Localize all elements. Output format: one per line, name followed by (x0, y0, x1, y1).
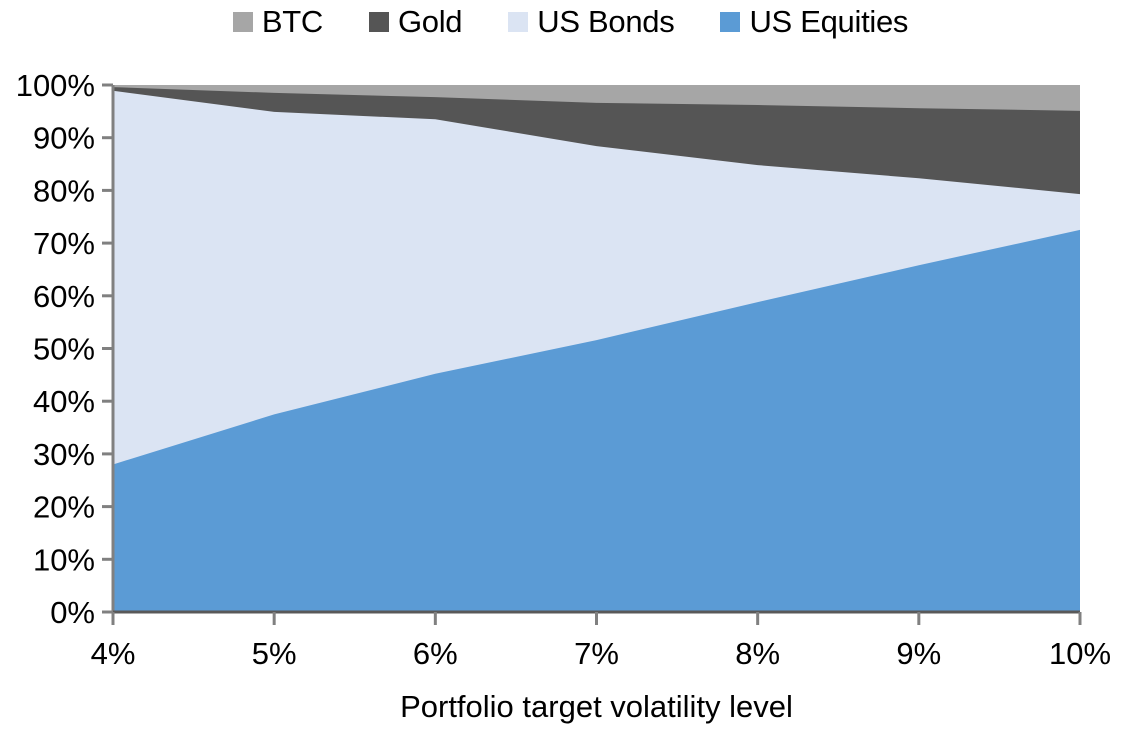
y-axis-tick-label: 50% (33, 332, 95, 367)
y-axis-tick-label: 90% (33, 121, 95, 156)
y-axis-tick-labels: 0%10%20%30%40%50%60%70%80%90%100% (16, 68, 95, 630)
y-axis-tick-label: 100% (16, 68, 95, 103)
y-axis-tick-label: 20% (33, 490, 95, 525)
y-axis-tick-label: 10% (33, 542, 95, 577)
x-axis-tick-label: 7% (574, 636, 619, 671)
y-axis-tick-label: 30% (33, 437, 95, 472)
plot-svg: 0%10%20%30%40%50%60%70%80%90%100% 4%5%6%… (0, 0, 1141, 742)
x-axis-tick-label: 5% (252, 636, 297, 671)
area-series-group (113, 85, 1080, 612)
stacked-area-chart: BTC Gold US Bonds US Equities 0%10%20%30… (0, 0, 1141, 742)
plot-area-wrapper: 0%10%20%30%40%50%60%70%80%90%100% 4%5%6%… (0, 0, 1141, 742)
y-axis-tick-label: 60% (33, 279, 95, 314)
x-axis-tick-label: 8% (735, 636, 780, 671)
y-axis-tick-label: 40% (33, 384, 95, 419)
x-axis-tick-label: 10% (1049, 636, 1111, 671)
x-axis-title: Portfolio target volatility level (400, 689, 793, 724)
x-axis-tick-label: 6% (413, 636, 458, 671)
x-axis-tick-label: 4% (91, 636, 136, 671)
x-axis-tick-labels: 4%5%6%7%8%9%10% (91, 636, 1111, 671)
y-axis-tick-label: 70% (33, 226, 95, 261)
x-axis-tick-label: 9% (896, 636, 941, 671)
y-axis-tick-label: 80% (33, 173, 95, 208)
y-axis-tick-label: 0% (50, 595, 95, 630)
